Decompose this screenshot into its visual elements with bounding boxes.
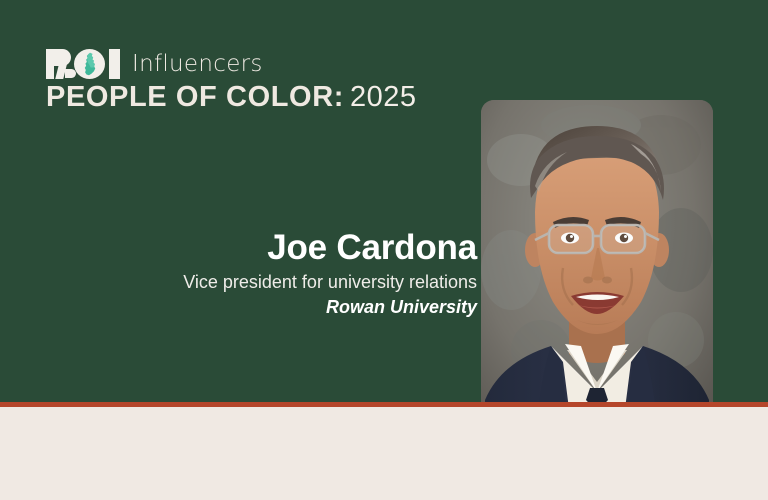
logo-letter-o-icon xyxy=(74,49,105,79)
honoree-job-title: Vice president for university relations xyxy=(47,270,477,294)
page-title: PEOPLE OF COLOR:2025 xyxy=(46,80,417,119)
roi-influencers-honoree-card: Influencers PEOPLE OF COLOR:2025 Joe Car… xyxy=(0,0,768,500)
headline-year-text: 2025 xyxy=(350,81,417,113)
roi-influencers-logo[interactable]: Influencers xyxy=(46,48,263,80)
new-jersey-state-icon xyxy=(83,52,97,76)
headline-main-text: PEOPLE OF COLOR: xyxy=(46,81,344,113)
honoree-portrait-photo xyxy=(481,100,713,448)
logo-wordmark-text: Influencers xyxy=(132,49,263,79)
honoree-organization: Rowan University xyxy=(47,295,477,319)
bottom-cream-strip xyxy=(0,407,768,500)
logo-letter-r-icon xyxy=(46,49,71,79)
portrait-illustration xyxy=(481,100,713,448)
logo-letter-r-leg xyxy=(55,64,67,79)
logo-letter-i-icon xyxy=(109,49,120,79)
roi-logo-mark xyxy=(46,49,120,79)
honoree-info-block: Joe Cardona Vice president for universit… xyxy=(47,228,477,319)
honoree-name: Joe Cardona xyxy=(47,228,477,268)
